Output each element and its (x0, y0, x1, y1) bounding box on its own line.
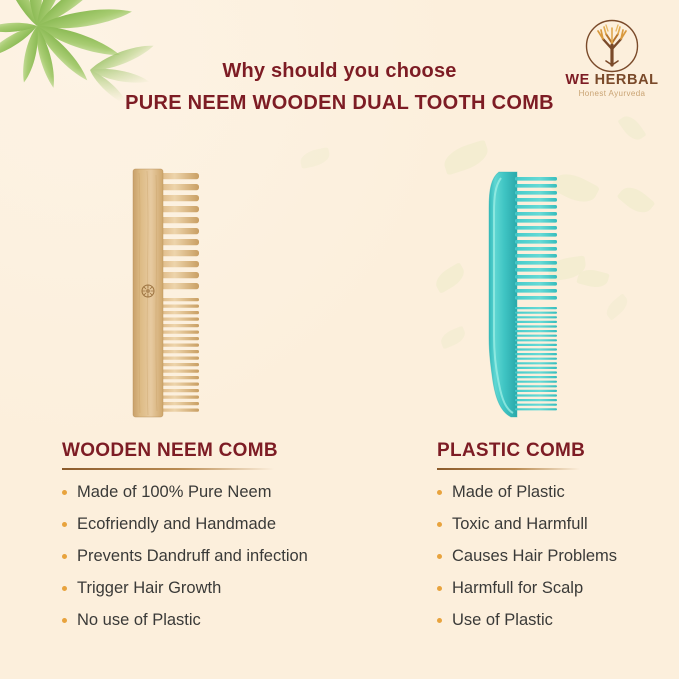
bullet-dot-icon (437, 522, 442, 527)
bullet-dot-icon (62, 522, 67, 527)
bullet-dot-icon (62, 586, 67, 591)
heading-underline (62, 468, 274, 470)
infographic-page: Why should you choose PURE NEEM WOODEN D… (0, 0, 679, 679)
bullet-dot-icon (437, 586, 442, 591)
list-item: Harmfull for Scalp (437, 578, 677, 598)
list-item: Made of Plastic (437, 482, 677, 502)
list-item-label: Made of Plastic (452, 483, 565, 501)
list-item: Causes Hair Problems (437, 546, 677, 566)
background-leaf-icon (617, 181, 656, 218)
list-item: Ecofriendly and Handmade (62, 514, 407, 534)
background-leaf-icon (299, 147, 332, 169)
bullet-dot-icon (437, 618, 442, 623)
list-item-label: Trigger Hair Growth (77, 579, 221, 597)
brand-logo: WE HERBAL Honest Ayurveda (562, 18, 662, 98)
tree-in-circle-icon (584, 18, 640, 74)
background-leaf-icon (432, 262, 469, 294)
list-item: Toxic and Harmfull (437, 514, 677, 534)
list-item: Use of Plastic (437, 610, 677, 630)
list-item: Trigger Hair Growth (62, 578, 407, 598)
list-item-label: Harmfull for Scalp (452, 579, 583, 597)
heading-underline (437, 468, 580, 470)
brand-name: WE HERBAL (562, 72, 662, 88)
list-item-label: Causes Hair Problems (452, 547, 617, 565)
brand-name-part2: HERBAL (595, 72, 659, 88)
list-item-label: Toxic and Harmfull (452, 515, 588, 533)
list-item: Made of 100% Pure Neem (62, 482, 407, 502)
list-item: No use of Plastic (62, 610, 407, 630)
background-leaf-icon (603, 293, 632, 320)
background-leaf-icon (438, 326, 468, 350)
wooden-comb-benefits-column: WOODEN NEEM COMB Made of 100% Pure Neem … (62, 440, 407, 642)
background-leaf-icon (441, 139, 492, 175)
plastic-comb-drawbacks-column: PLASTIC COMB Made of Plastic Toxic and H… (437, 440, 677, 642)
list-item-label: Prevents Dandruff and infection (77, 547, 308, 565)
bullet-dot-icon (437, 490, 442, 495)
list-item-label: Ecofriendly and Handmade (77, 515, 276, 533)
bullet-dot-icon (437, 554, 442, 559)
plastic-comb-image (487, 168, 559, 421)
wooden-comb-points-list: Made of 100% Pure Neem Ecofriendly and H… (62, 482, 407, 630)
list-item-label: Use of Plastic (452, 611, 553, 629)
list-item: Prevents Dandruff and infection (62, 546, 407, 566)
plastic-comb-points-list: Made of Plastic Toxic and Harmfull Cause… (437, 482, 677, 630)
list-item-label: No use of Plastic (77, 611, 201, 629)
brand-tagline: Honest Ayurveda (562, 89, 662, 98)
plastic-comb-heading: PLASTIC COMB (437, 440, 585, 467)
wooden-comb-heading: WOODEN NEEM COMB (62, 440, 278, 467)
wooden-neem-comb-image (131, 167, 201, 419)
bullet-dot-icon (62, 618, 67, 623)
brand-name-part1: WE (565, 72, 590, 88)
list-item-label: Made of 100% Pure Neem (77, 483, 271, 501)
bullet-dot-icon (62, 490, 67, 495)
bullet-dot-icon (62, 554, 67, 559)
